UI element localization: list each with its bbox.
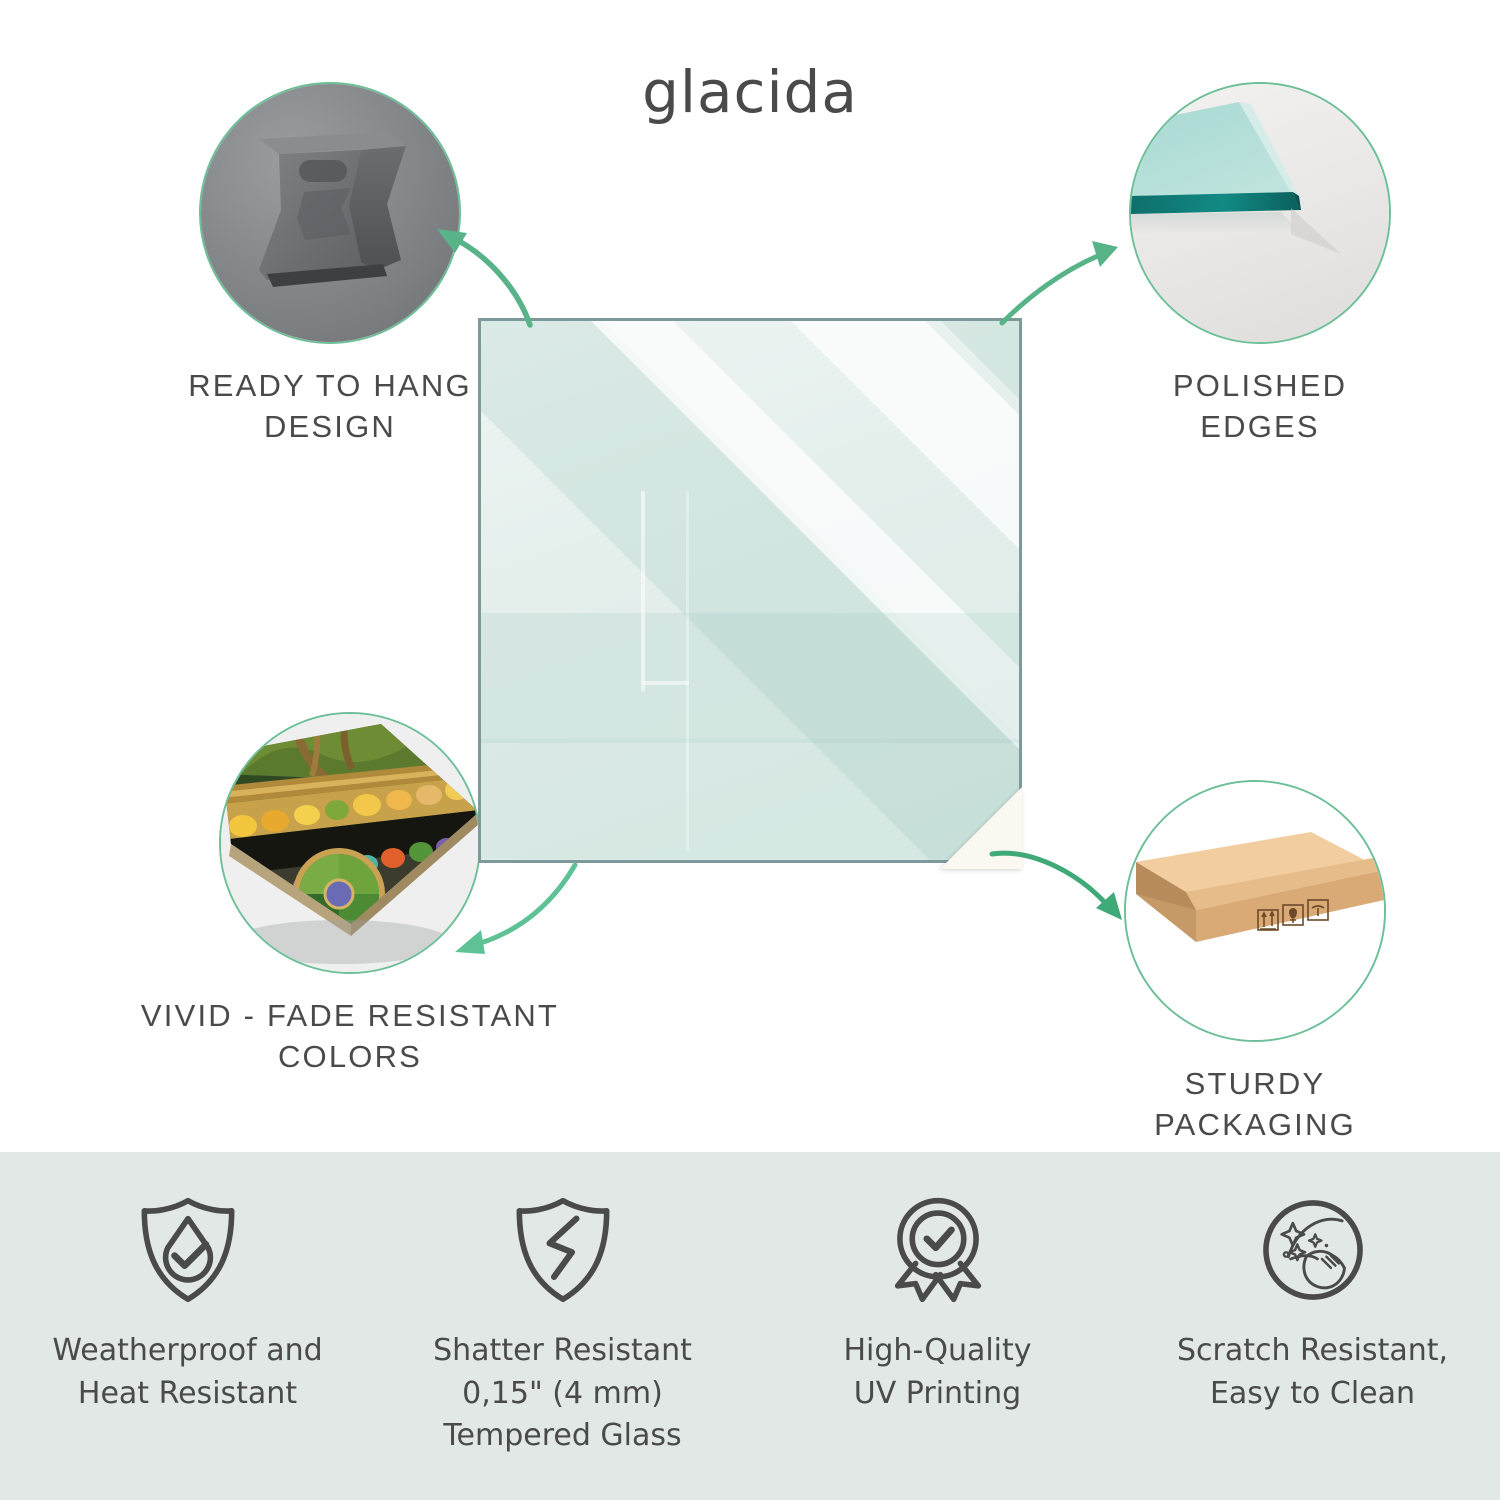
benefit-text-shatter-resistant: Shatter Resistant 0,15" (4 mm) Tempered …: [433, 1330, 692, 1458]
arrow-to-vivid-colors: [445, 860, 635, 970]
stained-glass-pattern-icon: [221, 714, 479, 972]
hanging-bracket-photo: [201, 84, 459, 342]
benefit-weatherproof: Weatherproof and Heat Resistant: [0, 1152, 375, 1500]
glass-polished-edge-photo: [1131, 84, 1389, 342]
benefit-text-scratch-resistant: Scratch Resistant, Easy to Clean: [1177, 1330, 1448, 1415]
feature-label-vivid-colors: VIVID - FADE RESISTANT COLORS: [105, 996, 595, 1078]
arrow-to-polished-edges: [1000, 205, 1130, 330]
benefits-band: Weatherproof and Heat Resistant Shatter …: [0, 1152, 1500, 1500]
arrow-to-sturdy-packaging: [990, 830, 1150, 950]
product-infographic: glacida: [0, 0, 1500, 1500]
cardboard-box-illustration: [1126, 782, 1384, 1040]
glass-corner-shape-icon: [1131, 84, 1389, 342]
feature-label-polished-edges: POLISHED EDGES: [1070, 366, 1450, 448]
glass-reflection-line-3: [686, 491, 689, 851]
feature-label-sturdy-packaging: STURDY PACKAGING: [1060, 1064, 1450, 1146]
benefit-text-uv-printing: High-Quality UV Printing: [843, 1330, 1031, 1415]
benefit-shatter-resistant: Shatter Resistant 0,15" (4 mm) Tempered …: [375, 1152, 750, 1500]
glass-band-2: [481, 739, 1019, 859]
award-badge-check-icon: [882, 1194, 994, 1306]
ready-to-hang-image: [199, 82, 461, 344]
shield-lightning-icon: [507, 1194, 619, 1306]
cardboard-box-icon: [1126, 782, 1384, 1040]
benefit-text-weatherproof: Weatherproof and Heat Resistant: [52, 1330, 322, 1415]
arrow-to-ready-to-hang: [425, 205, 625, 330]
sturdy-packaging-image: [1124, 780, 1386, 1042]
shield-droplet-check-icon: [132, 1194, 244, 1306]
glass-band-1: [481, 613, 1019, 743]
glass-reflection-line-1: [641, 491, 645, 691]
tempered-glass-panel: [478, 318, 1022, 863]
benefit-uv-printing: High-Quality UV Printing: [750, 1152, 1125, 1500]
benefit-scratch-resistant: Scratch Resistant, Easy to Clean: [1125, 1152, 1500, 1500]
bracket-shape-icon: [201, 84, 459, 342]
hand-sparkle-clean-icon: [1257, 1194, 1369, 1306]
polished-edges-image: [1129, 82, 1391, 344]
glass-reflection-line-2: [643, 681, 689, 685]
glass-tint-3: [1021, 318, 1022, 734]
stained-glass-artwork-photo: [221, 714, 479, 972]
vivid-colors-image: [219, 712, 481, 974]
